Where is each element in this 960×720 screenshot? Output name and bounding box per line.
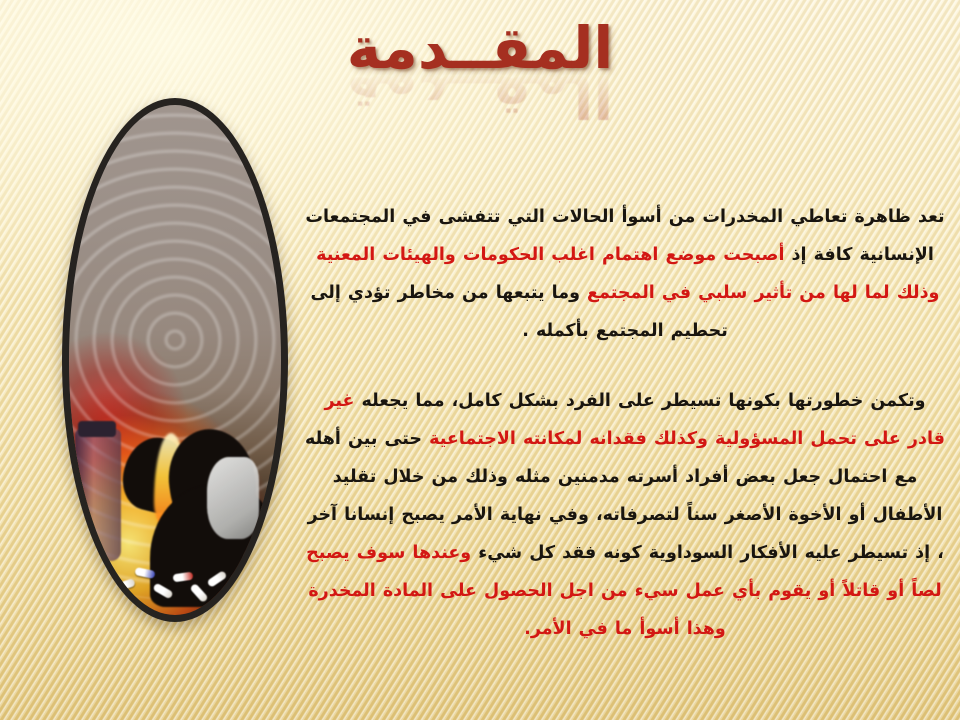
- pill-icon: [173, 572, 194, 583]
- pill-icon: [134, 567, 155, 579]
- scattered-pills-group: [69, 549, 281, 603]
- white-tissue-icon: [207, 457, 259, 539]
- bottle-cap-icon: [78, 421, 116, 437]
- paragraph-1: تعد ظاهرة تعاطي المخدرات من أسوأ الحالات…: [304, 198, 946, 350]
- slide-canvas: المقــدمة المقــدمة تعد ظاهرة: [0, 0, 960, 720]
- pill-icon: [114, 578, 135, 592]
- pill-icon: [101, 558, 117, 579]
- page-title-reflection: المقــدمة: [0, 65, 960, 126]
- oval-picture-frame: [62, 98, 288, 622]
- oval-picture-artwork: [69, 105, 281, 615]
- paragraph-2: وتكمن خطورتها بكونها تسيطر على الفرد بشك…: [304, 382, 946, 648]
- pill-icon: [152, 583, 173, 600]
- pill-icon: [206, 570, 227, 588]
- text-run: وتكمن خطورتها بكونها تسيطر على الفرد بشك…: [354, 391, 925, 411]
- glass-bottle-icon: [75, 429, 121, 561]
- pill-icon: [189, 583, 208, 603]
- slide-title-block: المقــدمة المقــدمة: [0, 18, 960, 148]
- slide-body: تعد ظاهرة تعاطي المخدرات من أسوأ الحالات…: [304, 180, 946, 665]
